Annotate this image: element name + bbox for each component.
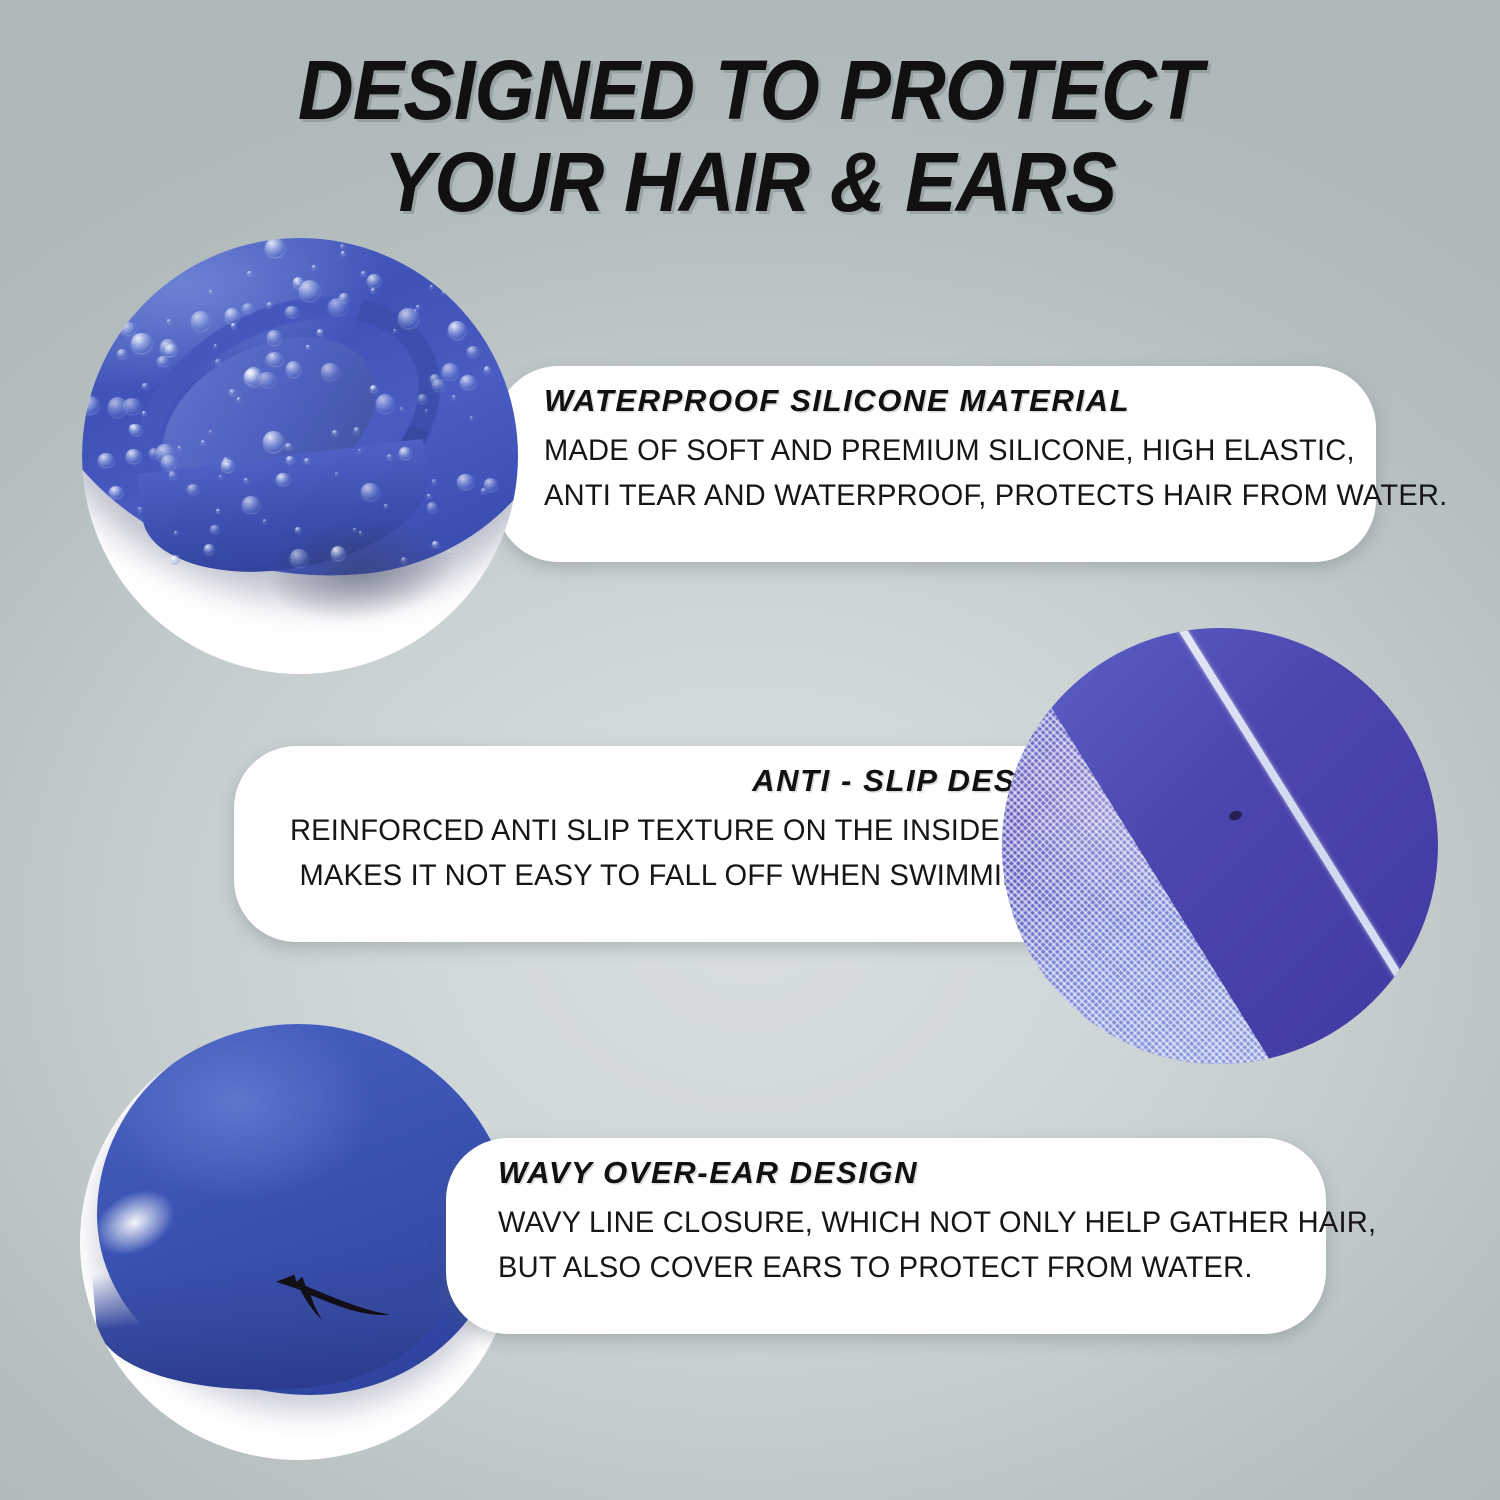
- water-droplet: [138, 507, 142, 510]
- water-droplet: [247, 271, 252, 276]
- product-photo-anti-slip-texture: close up of blue silicone showing dotted…: [1002, 628, 1438, 1064]
- water-droplet: [401, 557, 407, 563]
- water-droplet: [304, 458, 309, 463]
- water-droplet: [131, 333, 152, 353]
- water-droplet: [237, 397, 240, 400]
- water-droplet: [432, 379, 445, 391]
- water-droplet: [367, 274, 381, 287]
- water-droplet: [448, 321, 466, 339]
- water-droplet: [397, 238, 415, 255]
- water-droplet: [331, 546, 345, 560]
- water-droplet: [169, 471, 176, 478]
- water-droplet: [452, 395, 456, 399]
- water-droplet: [174, 531, 177, 534]
- water-droplet: [215, 359, 221, 364]
- feature-body-line: REINFORCED ANTI SLIP TEXTURE ON THE INSI…: [290, 808, 1064, 853]
- feature-body-line: MADE OF SOFT AND PREMIUM SILICONE, HIGH …: [544, 428, 1318, 473]
- water-droplet: [115, 326, 119, 329]
- water-droplet: [244, 478, 248, 482]
- water-droplet: [400, 407, 403, 410]
- water-droplet: [130, 424, 142, 434]
- water-droplet: [370, 385, 377, 392]
- water-droplet: [144, 261, 153, 269]
- water-droplet: [285, 443, 293, 449]
- water-droplet: [267, 302, 272, 307]
- water-droplet: [361, 271, 366, 275]
- water-droplet: [361, 483, 378, 500]
- water-droplet: [332, 430, 338, 435]
- water-droplet: [312, 265, 316, 269]
- water-droplet: [210, 525, 220, 534]
- water-droplet: [393, 329, 397, 332]
- water-droplet: [285, 306, 299, 317]
- water-droplet: [339, 293, 349, 302]
- water-droplet: [219, 475, 222, 478]
- water-droplet: [109, 486, 123, 498]
- water-droplet: [442, 363, 458, 379]
- water-droplet: [431, 267, 441, 278]
- water-droplet: [353, 528, 356, 531]
- water-droplet: [286, 361, 301, 377]
- water-droplet: [225, 308, 239, 322]
- water-droplet: [306, 345, 310, 348]
- water-droplet: [293, 277, 304, 288]
- water-droplet: [214, 344, 217, 347]
- water-droplet: [209, 430, 212, 433]
- water-droplet: [263, 519, 266, 522]
- water-droplet: [123, 277, 145, 297]
- water-droplet: [359, 531, 362, 534]
- water-droplet: [290, 549, 308, 567]
- water-droplet: [82, 396, 99, 414]
- feature-body: WAVY LINE CLOSURE, WHICH NOT ONLY HELP G…: [498, 1200, 1292, 1290]
- water-droplet: [98, 453, 114, 467]
- water-droplet: [263, 431, 284, 453]
- water-droplet: [217, 509, 221, 512]
- water-droplet: [242, 303, 254, 313]
- water-droplet: [484, 478, 498, 490]
- water-droplet: [384, 504, 388, 507]
- feature-body: REINFORCED ANTI SLIP TEXTURE ON THE INSI…: [278, 808, 1076, 898]
- water-droplet: [120, 322, 136, 335]
- water-droplet: [295, 527, 301, 532]
- water-droplet: [178, 446, 182, 449]
- water-droplet: [432, 541, 438, 547]
- water-droplet: [276, 473, 290, 485]
- water-droplet: [387, 454, 392, 458]
- water-droplet: [165, 344, 176, 356]
- water-droplet: [335, 472, 338, 475]
- water-droplet: [354, 427, 360, 432]
- water-droplet: [229, 389, 236, 395]
- water-droplet: [463, 297, 483, 316]
- feature-heading: WATERPROOF SILICONE MATERIAL: [544, 380, 1342, 422]
- product-photo-waterproof-silicone: folded blue silicone swim cap covered in…: [82, 238, 518, 674]
- feature-body-line: MAKES IT NOT EASY TO FALL OFF WHEN SWIMM…: [290, 853, 1064, 898]
- water-droplet: [484, 366, 490, 373]
- water-droplet: [157, 356, 168, 366]
- title-line-1: DESIGNED TO PROTECT: [60, 44, 1440, 136]
- water-droplet: [286, 456, 293, 463]
- water-droplet: [399, 447, 410, 459]
- water-droplet: [126, 449, 141, 464]
- water-droplet: [321, 363, 338, 380]
- water-droplet: [418, 394, 428, 403]
- water-droplet: [341, 251, 345, 255]
- water-droplet: [231, 323, 236, 328]
- water-droplet: [91, 367, 97, 373]
- water-droplet: [414, 309, 417, 312]
- page-title: DESIGNED TO PROTECT YOUR HAIR & EARS: [0, 44, 1500, 228]
- water-droplet: [460, 375, 477, 389]
- water-droplet: [117, 349, 127, 358]
- water-droplet: [242, 496, 260, 513]
- water-droplet: [191, 311, 210, 330]
- water-droplet: [271, 354, 275, 357]
- water-droplet: [267, 330, 281, 345]
- water-droplet: [432, 479, 436, 483]
- feature-card-anti-slip-design: ANTI - SLIP DESIGN REINFORCED ANTI SLIP …: [234, 746, 1114, 942]
- water-droplet: [358, 449, 362, 452]
- water-droplet: [170, 555, 179, 565]
- feature-body-line: WAVY LINE CLOSURE, WHICH NOT ONLY HELP G…: [498, 1200, 1268, 1245]
- feature-body: MADE OF SOFT AND PREMIUM SILICONE, HIGH …: [544, 428, 1342, 518]
- title-line-2: YOUR HAIR & EARS: [60, 136, 1440, 228]
- water-droplet: [442, 291, 445, 294]
- feature-heading: WAVY OVER-EAR DESIGN: [498, 1152, 1292, 1194]
- water-droplet: [448, 550, 452, 554]
- brand-bird-logo-icon: [272, 1259, 394, 1333]
- water-droplet: [201, 440, 205, 444]
- water-droplet: [245, 367, 263, 386]
- water-droplet: [142, 383, 148, 388]
- water-droplet: [317, 329, 323, 335]
- water-droplet: [467, 346, 479, 356]
- infographic-stage: DESIGNED TO PROTECT YOUR HAIR & EARS WAT…: [0, 0, 1500, 1500]
- water-droplet: [430, 285, 433, 288]
- water-droplet: [470, 416, 473, 419]
- water-droplet: [427, 494, 431, 497]
- water-droplet: [457, 474, 474, 489]
- water-droplet: [427, 502, 437, 512]
- water-droplet: [187, 484, 200, 495]
- water-droplet: [108, 397, 127, 417]
- water-droplet: [425, 409, 428, 412]
- feature-heading: ANTI - SLIP DESIGN: [278, 760, 1076, 802]
- water-droplet: [161, 455, 176, 470]
- feature-card-waterproof-silicone-material: WATERPROOF SILICONE MATERIAL MADE OF SOF…: [496, 366, 1376, 562]
- water-droplet: [340, 244, 345, 248]
- water-droplet: [265, 238, 285, 257]
- water-droplet: [209, 290, 212, 293]
- water-droplet: [376, 394, 394, 413]
- water-droplet: [416, 305, 419, 308]
- feature-body-line: ANTI TEAR AND WATERPROOF, PROTECTS HAIR …: [544, 473, 1318, 518]
- water-droplets-icon: [82, 238, 518, 674]
- water-droplet: [371, 288, 375, 292]
- water-droplet: [223, 457, 229, 463]
- water-droplet: [204, 544, 214, 554]
- water-droplet: [142, 411, 146, 415]
- water-droplet: [167, 319, 172, 323]
- feature-card-wavy-over-ear-design: WAVY OVER-EAR DESIGN WAVY LINE CLOSURE, …: [446, 1138, 1326, 1334]
- feature-body-line: BUT ALSO COVER EARS TO PROTECT FROM WATE…: [498, 1245, 1268, 1290]
